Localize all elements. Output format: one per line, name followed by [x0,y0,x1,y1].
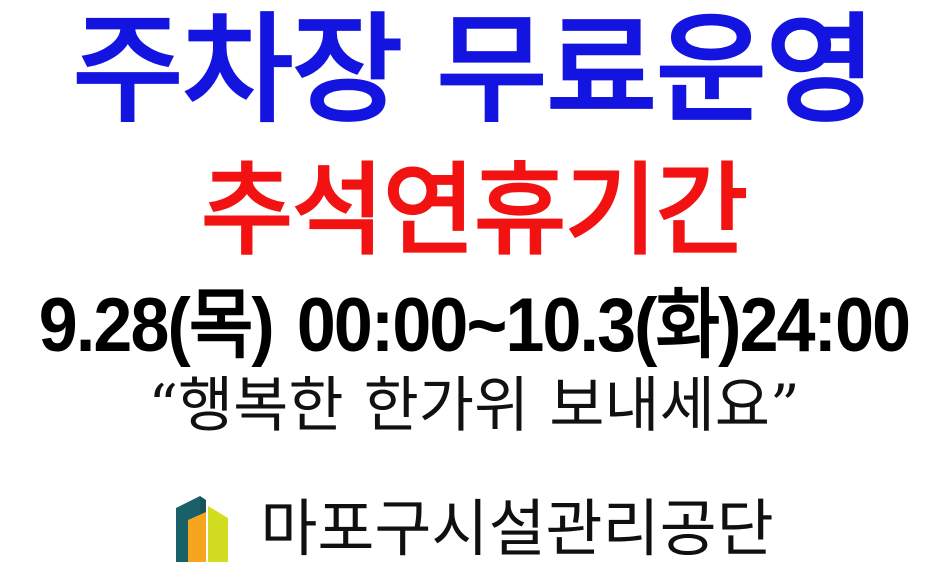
mapo-facilities-building-logo-icon [174,494,230,564]
parking-free-notice-poster: 주차장무료운영 추석연휴기간 9.28(목)00:00~10.3(화)24:00… [0,0,948,571]
greeting-word-chuseok: 한가위 [364,371,530,441]
period-start-date: 9.28(목) [39,283,273,368]
footer-organization-row: 마포구시설관리공단 [0,486,948,571]
headline-text-parking: 주차장 [73,1,402,139]
subheadline-chuseok-holiday-period: 추석연휴기간 [0,152,948,270]
organization-name: 마포구시설관리공단 [260,493,773,565]
greeting-word-happy: 행복한 [178,371,344,441]
logo-lime-panel [208,506,228,562]
close-quote-mark: ” [770,372,800,440]
logo-orange-panel [188,512,206,562]
period-end-date: 10.3(화) [505,283,739,368]
headline-parking-free: 주차장무료운영 [0,2,948,138]
greeting-word-send: 보내세요 [549,371,770,441]
headline-text-free-operation: 무료운영 [436,1,875,139]
greeting-quote: “행복한한가위보내세요” [0,366,948,446]
period-end-time: 24:00 [740,283,910,368]
open-quote-mark: “ [148,372,178,440]
period-datetime-range: 9.28(목)00:00~10.3(화)24:00 [38,283,910,369]
period-tilde: ~ [466,283,505,368]
period-start-time: 00:00 [297,283,467,368]
